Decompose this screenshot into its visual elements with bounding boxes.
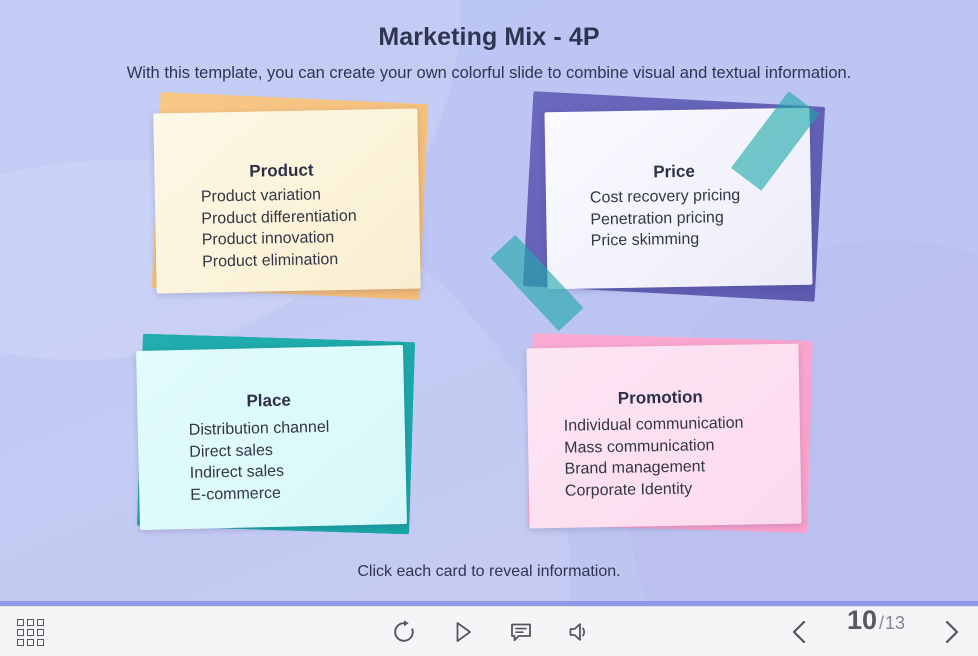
card-place-list: Distribution channel Direct sales Indire… (138, 415, 407, 507)
volume-button[interactable] (557, 607, 601, 656)
page-separator: / (879, 614, 884, 632)
player-toolbar: 10/13 (0, 606, 978, 656)
page-indicator: 10/13 (830, 607, 922, 656)
slides-grid-button[interactable] (8, 607, 52, 656)
list-item: Corporate Identity (565, 476, 801, 502)
card-product-title: Product (154, 158, 418, 183)
comment-icon (508, 619, 534, 645)
slide-subtitle: With this template, you can create your … (0, 64, 978, 83)
list-item: Price skimming (591, 227, 812, 252)
card-place-front[interactable]: Place Distribution channel Direct sales … (136, 345, 407, 530)
page-title: Marketing Mix - 4P (0, 23, 978, 52)
play-button[interactable] (441, 607, 485, 656)
card-product[interactable]: Product Product variation Product differ… (152, 97, 442, 307)
page-total: 13 (885, 614, 905, 632)
card-place[interactable]: Place Distribution channel Direct sales … (132, 338, 422, 543)
card-place-title: Place (137, 388, 404, 414)
card-promotion-title: Promotion (527, 386, 799, 411)
list-item: Product elimination (202, 247, 420, 273)
chevron-left-icon (786, 618, 814, 646)
replay-icon (391, 619, 417, 645)
next-slide-button[interactable] (930, 607, 972, 656)
speaker-icon (566, 619, 592, 645)
replay-button[interactable] (382, 607, 426, 656)
previous-slide-button[interactable] (778, 607, 822, 656)
slide-instruction: Click each card to reveal information. (0, 563, 978, 581)
card-promotion[interactable]: Promotion Individual communication Mass … (522, 337, 822, 542)
slide-stage: Marketing Mix - 4P With this template, y… (0, 0, 978, 601)
chevron-right-icon (937, 618, 965, 646)
slide-viewer: Marketing Mix - 4P With this template, y… (0, 0, 978, 656)
card-price[interactable]: Price Cost recovery pricing Penetration … (528, 95, 840, 310)
grid-icon (17, 619, 44, 646)
page-current: 10 (847, 607, 877, 634)
card-product-list: Product variation Product differentiatio… (155, 182, 421, 273)
card-price-list: Cost recovery pricing Penetration pricin… (546, 184, 812, 253)
list-item: E-commerce (190, 479, 406, 505)
card-promotion-list: Individual communication Mass communicat… (528, 412, 801, 503)
card-product-front[interactable]: Product Product variation Product differ… (153, 108, 420, 293)
notes-button[interactable] (499, 607, 543, 656)
card-promotion-front[interactable]: Promotion Individual communication Mass … (526, 344, 801, 529)
play-icon (450, 619, 476, 645)
